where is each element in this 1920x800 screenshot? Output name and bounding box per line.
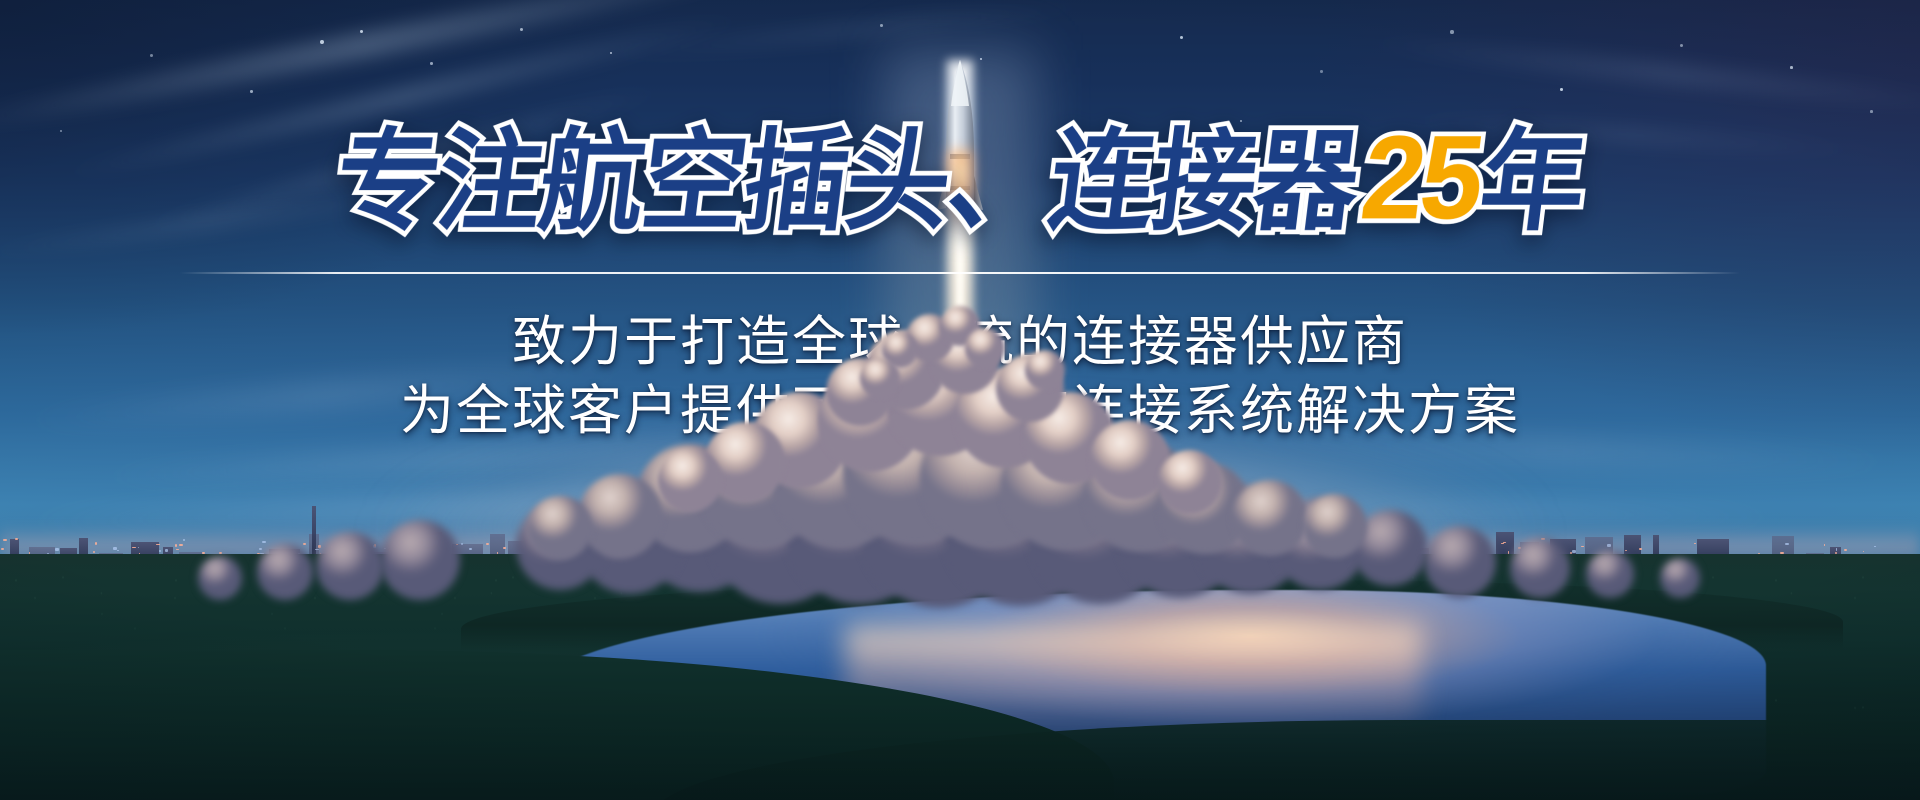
divider-line	[180, 272, 1740, 274]
headline-main-text: 专注航空插头、连接器	[329, 127, 1363, 237]
headline-number: 25	[1355, 119, 1486, 238]
headline-unit: 年	[1474, 127, 1590, 237]
hero-banner: 专注航空插头、连接器 25 年 致力于打造全球一流的连接器供应商 为全球客户提供…	[0, 0, 1920, 800]
headline: 专注航空插头、连接器 25 年	[329, 119, 1590, 238]
